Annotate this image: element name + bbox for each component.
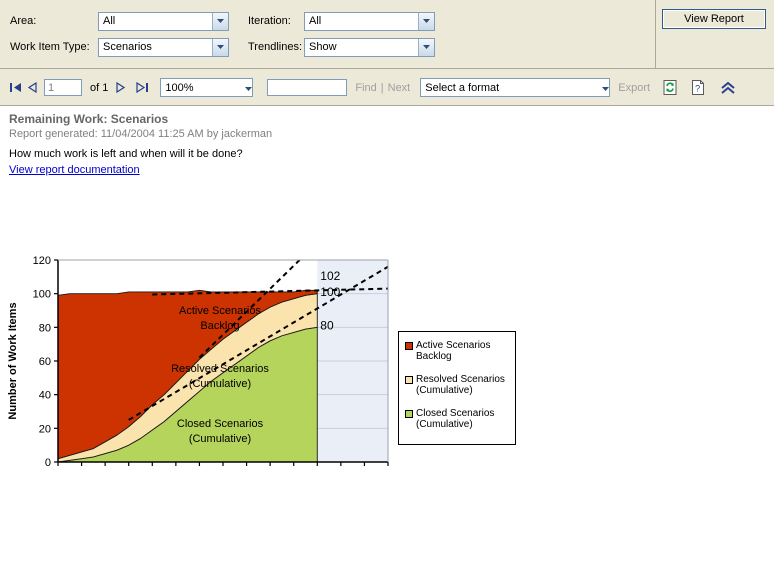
work-item-type-label: Work Item Type: — [10, 41, 98, 53]
refresh-icon[interactable] — [662, 80, 678, 96]
help-icon[interactable]: ? — [690, 80, 706, 96]
legend-label-line1: Resolved Scenarios — [416, 374, 505, 385]
zoom-dropdown[interactable]: 100% — [160, 78, 253, 97]
legend-item-resolved-scenarios: Resolved Scenarios (Cumulative) — [405, 374, 505, 396]
chevron-down-icon[interactable] — [602, 82, 609, 94]
y-axis-tick-label: 20 — [39, 423, 51, 435]
collapse-parameters-icon[interactable] — [720, 81, 736, 95]
y-axis-tick-label: 120 — [33, 255, 51, 267]
y-axis-tick-label: 60 — [39, 356, 51, 368]
next-page-icon[interactable] — [112, 80, 128, 96]
data-point-label: 80 — [320, 319, 334, 333]
svg-text:Resolved Scenarios: Resolved Scenarios — [171, 363, 269, 375]
data-point-label: 100 — [320, 285, 340, 299]
report-viewer: Area: All Iteration: All Work Item Type:… — [0, 0, 774, 587]
find-input[interactable] — [267, 79, 347, 96]
find-next-separator: | — [381, 82, 384, 94]
chevron-down-icon[interactable] — [418, 13, 434, 30]
svg-text:?: ? — [695, 84, 700, 94]
parameter-divider — [655, 0, 656, 68]
legend-label-line2: (Cumulative) — [416, 419, 473, 430]
y-axis-tick-label: 80 — [39, 322, 51, 334]
chevron-down-icon[interactable] — [212, 13, 228, 30]
area-dropdown[interactable]: All — [98, 12, 229, 31]
svg-text:Closed Scenarios: Closed Scenarios — [177, 418, 264, 430]
page-number-input[interactable] — [44, 79, 82, 96]
svg-text:(Cumulative): (Cumulative) — [189, 378, 251, 390]
legend-label: Resolved Scenarios (Cumulative) — [416, 374, 505, 396]
legend-item-active-scenarios-backlog: Active Scenarios Backlog — [405, 340, 490, 362]
chevron-down-icon[interactable] — [212, 39, 228, 56]
svg-text:(Cumulative): (Cumulative) — [189, 433, 251, 445]
work-item-type-dropdown-value: Scenarios — [99, 41, 212, 53]
legend-swatch-icon — [405, 342, 413, 350]
legend-label: Active Scenarios Backlog — [416, 340, 490, 362]
legend-item-closed-scenarios: Closed Scenarios (Cumulative) — [405, 408, 494, 430]
legend-label-line1: Active Scenarios — [416, 340, 490, 351]
trendlines-dropdown-value: Show — [305, 41, 418, 53]
report-generated-label: Report generated: 11/04/2004 11:25 AM by… — [9, 128, 272, 140]
legend-label-line1: Closed Scenarios — [416, 408, 494, 419]
svg-text:Active Scenarios: Active Scenarios — [179, 305, 261, 317]
svg-text:Backlog: Backlog — [200, 320, 239, 332]
previous-page-icon[interactable] — [24, 80, 40, 96]
report-documentation-link[interactable]: View report documentation — [9, 164, 140, 176]
export-button[interactable]: Export — [618, 82, 650, 94]
view-report-button[interactable]: View Report — [662, 9, 766, 29]
area-dropdown-value: All — [99, 15, 212, 27]
page-title: Remaining Work: Scenarios — [9, 112, 168, 126]
iteration-label: Iteration: — [238, 15, 304, 27]
export-format-dropdown[interactable]: Select a format — [420, 78, 610, 97]
trendlines-dropdown[interactable]: Show — [304, 38, 435, 57]
report-body: Remaining Work: Scenarios Report generat… — [0, 107, 774, 587]
legend-label: Closed Scenarios (Cumulative) — [416, 408, 494, 430]
area-label: Area: — [10, 15, 98, 27]
y-axis-title: Number of Work Items — [7, 302, 19, 419]
find-next-button[interactable]: Next — [388, 82, 411, 94]
y-axis-tick-label: 100 — [33, 289, 51, 301]
legend-label-line2: (Cumulative) — [416, 385, 473, 396]
legend-swatch-icon — [405, 410, 413, 418]
y-axis-tick-label: 0 — [45, 457, 51, 469]
export-format-value: Select a format — [421, 82, 602, 94]
report-question: How much work is left and when will it b… — [9, 148, 243, 160]
find-button[interactable]: Find — [355, 82, 376, 94]
iteration-dropdown[interactable]: All — [304, 12, 435, 31]
y-axis-tick-label: 40 — [39, 390, 51, 402]
last-page-icon[interactable] — [134, 80, 150, 96]
data-point-label: 102 — [320, 269, 340, 283]
work-item-type-dropdown[interactable]: Scenarios — [98, 38, 229, 57]
legend-label-line2: Backlog — [416, 351, 452, 362]
first-page-icon[interactable] — [8, 80, 24, 96]
parameter-bar: Area: All Iteration: All Work Item Type:… — [0, 0, 774, 69]
trendlines-label: Trendlines: — [238, 41, 304, 53]
page-count-label: of 1 — [90, 82, 108, 94]
chevron-down-icon[interactable] — [418, 39, 434, 56]
report-toolbar: of 1 100% Find | Next Select a format — [0, 69, 774, 106]
zoom-dropdown-value: 100% — [161, 82, 245, 94]
iteration-dropdown-value: All — [305, 15, 418, 27]
chevron-down-icon[interactable] — [245, 82, 252, 94]
chart-legend: Active Scenarios Backlog Resolved Scenar… — [398, 331, 516, 445]
legend-swatch-icon — [405, 376, 413, 384]
